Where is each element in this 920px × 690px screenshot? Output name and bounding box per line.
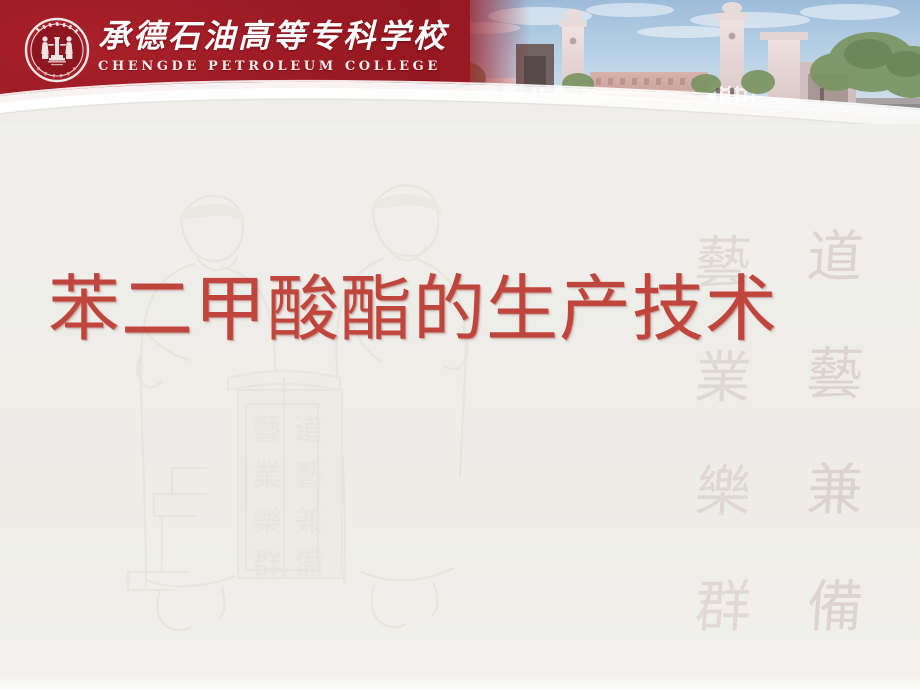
school-name-chinese: 承德石油高等专科学校: [98, 16, 428, 56]
header-wordmark: 承德石油高等专科学校 CHENGDE PETROLEUM COLLEGE: [98, 16, 428, 75]
footer-band: [0, 676, 920, 690]
svg-text:藝: 藝: [294, 459, 324, 494]
college-seal-emblem: [24, 17, 90, 83]
page-title: 苯二甲酸酯的生产技术: [48, 272, 778, 348]
svg-text:道: 道: [294, 413, 324, 448]
svg-text:備: 備: [294, 547, 324, 582]
slide-title-container: 苯二甲酸酯的生产技术: [0, 272, 920, 348]
svg-text:群: 群: [252, 547, 282, 582]
svg-text:兼: 兼: [294, 505, 324, 540]
svg-text:藝: 藝: [252, 413, 282, 448]
students-and-monument-watermark: 道 藝 兼 備 藝 業 樂 群: [78, 168, 498, 638]
slide-header: 承德石油高等专科学校 CHENGDE PETROLEUM COLLEGE: [0, 0, 920, 124]
presentation-slide: 道 藝 兼 備 藝 業 樂 群 道 藝 兼 備 藝 業 樂 群 苯二甲酸酯的生产: [0, 0, 920, 690]
svg-text:業: 業: [252, 459, 282, 494]
school-name-english: CHENGDE PETROLEUM COLLEGE: [98, 59, 428, 75]
svg-text:樂: 樂: [252, 505, 282, 540]
